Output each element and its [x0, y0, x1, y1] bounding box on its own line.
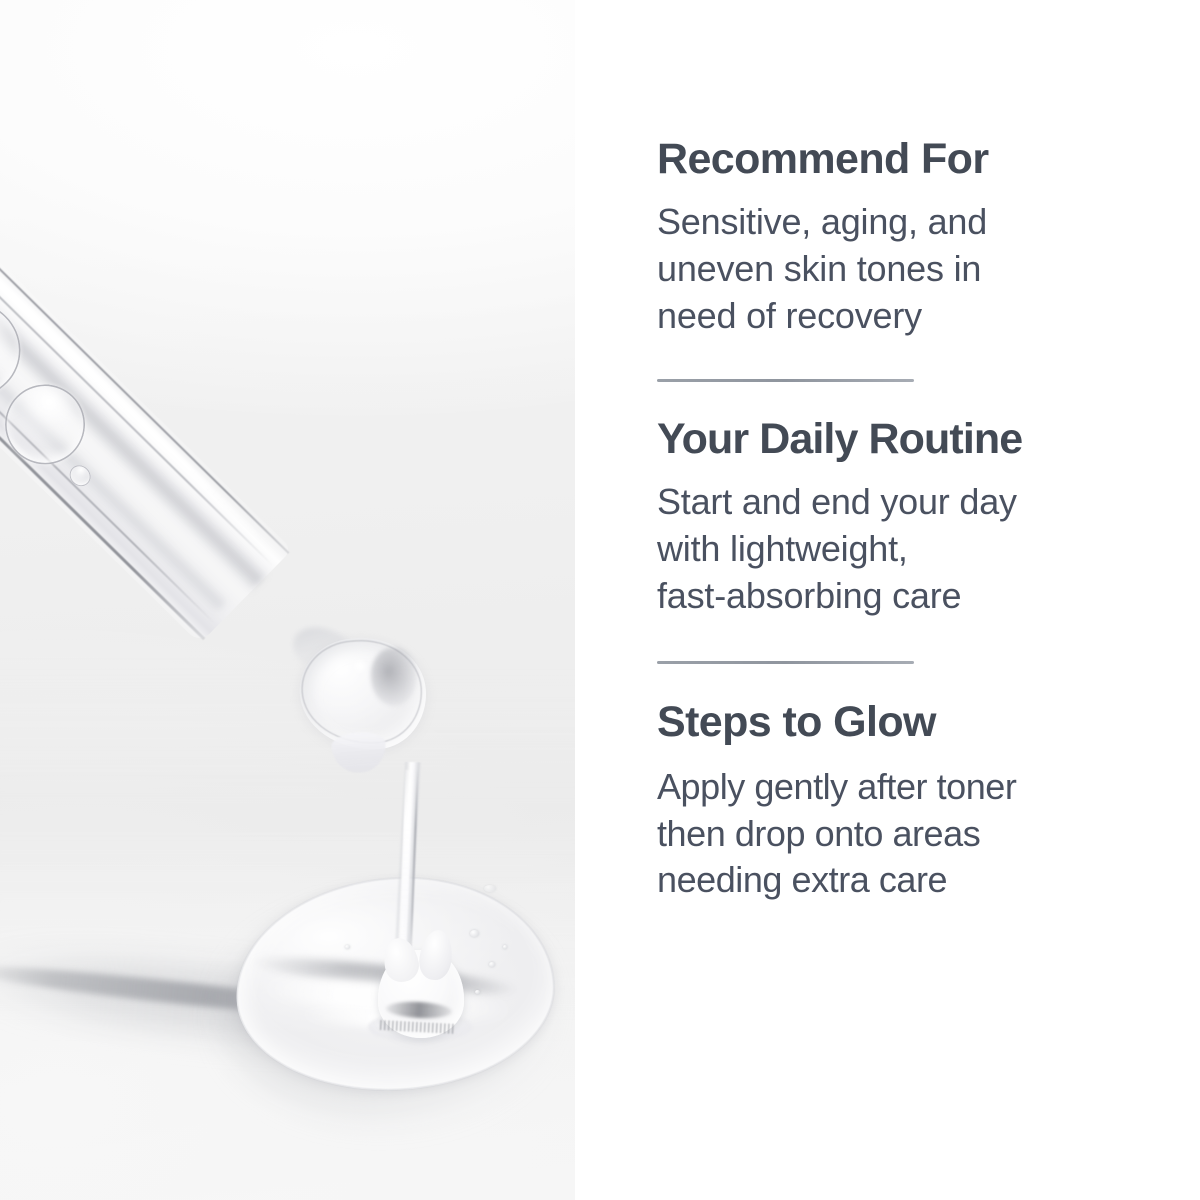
micro-droplet — [475, 990, 480, 994]
section-steps-to-glow: Steps to Glow Apply gently after toner t… — [657, 701, 1127, 904]
section-body-daily-routine: Start and end your day with lightweight,… — [657, 479, 1127, 619]
body-line: then drop onto areas — [657, 811, 1127, 858]
product-photo — [0, 0, 575, 1200]
micro-droplet — [484, 885, 496, 892]
body-line: Sensitive, aging, and — [657, 199, 1127, 246]
section-title-steps-to-glow: Steps to Glow — [657, 701, 1127, 744]
micro-droplet — [470, 930, 479, 937]
body-line: Start and end your day — [657, 479, 1127, 526]
micro-droplet — [503, 945, 507, 949]
body-line: needing extra care — [657, 857, 1127, 904]
section-body-steps-to-glow: Apply gently after toner then drop onto … — [657, 764, 1127, 904]
info-text-panel: Recommend For Sensitive, aging, and unev… — [575, 0, 1200, 1200]
body-line: Apply gently after toner — [657, 764, 1127, 811]
body-line: uneven skin tones in — [657, 246, 1127, 293]
body-line: need of recovery — [657, 293, 1127, 340]
info-sections: Recommend For Sensitive, aging, and unev… — [657, 138, 1127, 904]
section-divider — [657, 661, 914, 664]
section-title-daily-routine: Your Daily Routine — [657, 418, 1127, 461]
body-line: with lightweight, — [657, 526, 1127, 573]
micro-droplet — [345, 945, 350, 949]
section-daily-routine: Your Daily Routine Start and end your da… — [657, 418, 1127, 619]
micro-droplet — [489, 962, 495, 967]
product-info-card: Recommend For Sensitive, aging, and unev… — [0, 0, 1200, 1200]
dropper-nozzle — [296, 634, 430, 755]
section-recommend-for: Recommend For Sensitive, aging, and unev… — [657, 138, 1127, 339]
section-title-recommend-for: Recommend For — [657, 138, 1127, 181]
section-divider — [657, 379, 914, 382]
body-line: fast-absorbing care — [657, 573, 1127, 620]
section-body-recommend-for: Sensitive, aging, and uneven skin tones … — [657, 199, 1127, 339]
